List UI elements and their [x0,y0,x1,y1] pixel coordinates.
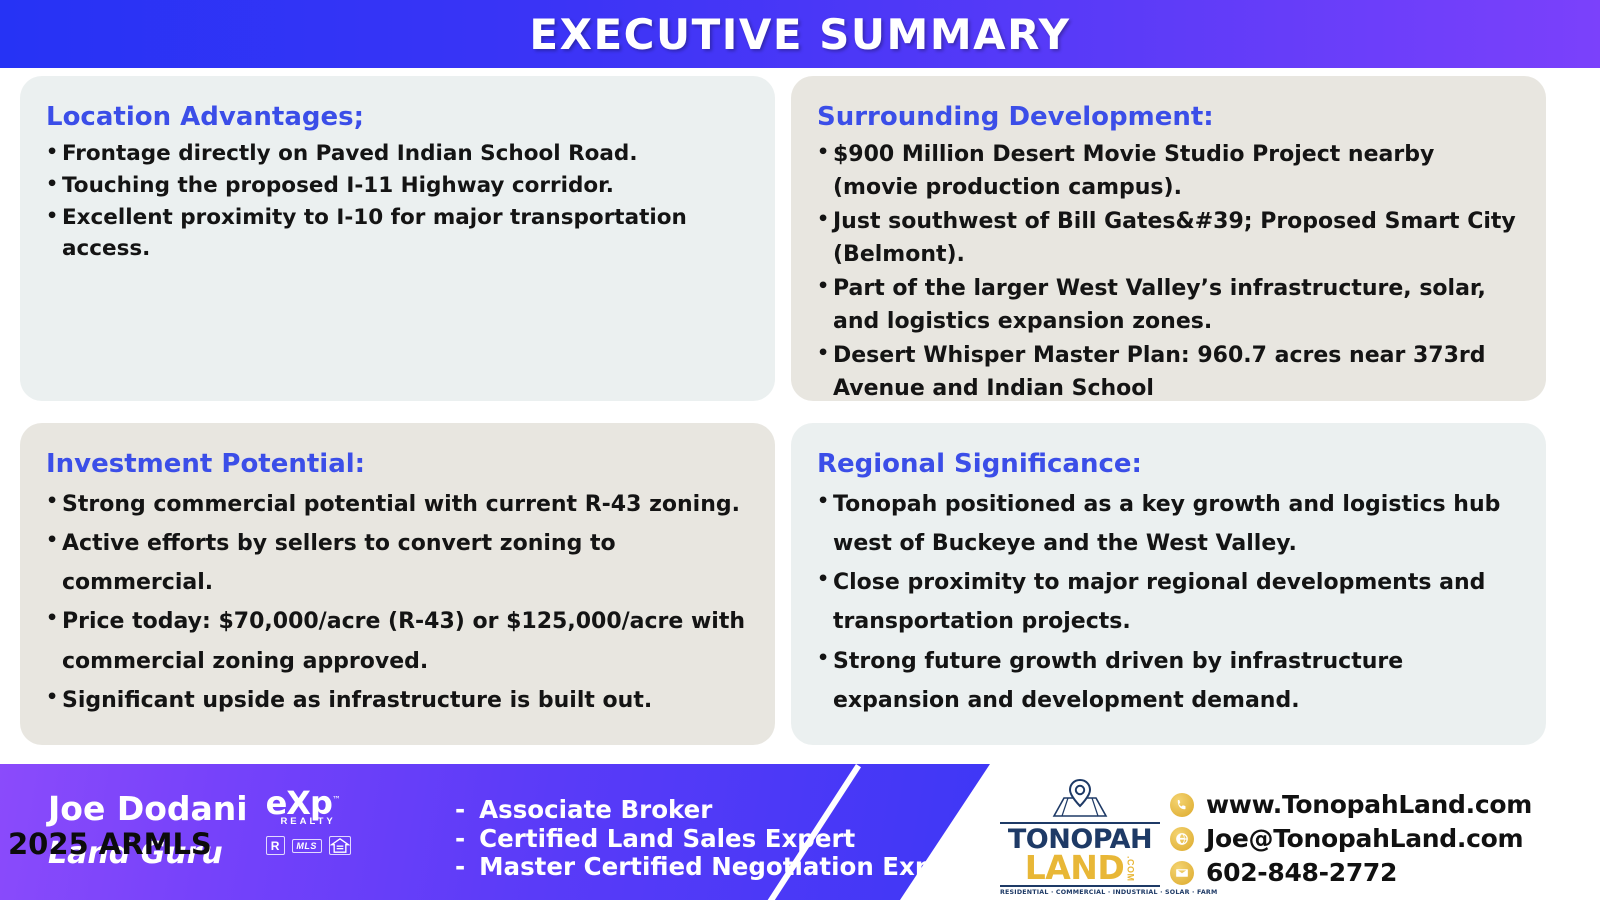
list-item: Strong commercial potential with current… [46,485,749,524]
brokerage-name: eXp™ [266,788,351,818]
contact-value: 602-848-2772 [1206,858,1397,887]
contact-value: www.TonopahLand.com [1206,790,1532,819]
agent-name: Joe Dodani [48,792,248,825]
tonopah-land-logo[interactable]: TONOPAH LAND .COM RESIDENTIAL · COMMERCI… [1000,778,1160,896]
association-logos: R MLS [266,836,351,855]
agent-credentials: - Associate Broker - Certified Land Sale… [455,796,973,882]
list-item: Excellent proximity to I-10 for major tr… [46,202,749,266]
list-item: Close proximity to major regional develo… [817,563,1520,641]
card-regional-significance: Regional Significance: Tonopah positione… [791,423,1546,745]
phone-icon [1170,793,1194,817]
logo-suffix-com: .COM [1125,856,1135,882]
list-item: Active efforts by sellers to convert zon… [46,524,749,602]
card-surrounding-development: Surrounding Development: $900 Million De… [791,76,1546,401]
card-bullet-list: Strong commercial potential with current… [46,485,749,720]
card-investment-potential: Investment Potential: Strong commercial … [20,423,775,745]
list-item: Strong future growth driven by infrastru… [817,642,1520,720]
trademark-icon: ™ [332,795,340,805]
list-item: Significant upside as infrastructure is … [46,681,749,720]
map-pin-parcel-icon [1000,778,1160,820]
credential-label: Associate Broker [479,796,712,825]
credential-dash: - [455,796,465,825]
list-item: Desert Whisper Master Plan: 960.7 acres … [817,339,1520,406]
credential-item: - Certified Land Sales Expert [455,825,973,854]
brokerage-wordmark: eXp [266,784,332,822]
card-bullet-list: Frontage directly on Paved Indian School… [46,138,749,265]
contact-value: Joe@TonopahLand.com [1206,824,1523,853]
list-item: Tonopah positioned as a key growth and l… [817,485,1520,563]
card-title: Regional Significance: [817,449,1520,479]
contact-website[interactable]: www.TonopahLand.com [1170,790,1532,819]
contact-phone[interactable]: 602-848-2772 [1170,858,1532,887]
page-header: EXECUTIVE SUMMARY [0,0,1600,68]
list-item: Part of the larger West Valley’s infrast… [817,272,1520,339]
credential-item: - Master Certified Negotiation Expert [455,853,973,882]
contact-list: www.TonopahLand.com Joe@TonopahLand.com … [1170,790,1532,892]
summary-card-grid: Location Advantages; Frontage directly o… [20,76,1580,745]
globe-icon [1170,827,1194,851]
contact-email[interactable]: Joe@TonopahLand.com [1170,824,1532,853]
card-title: Location Advantages; [46,102,749,132]
credential-label: Certified Land Sales Expert [479,825,855,854]
exp-realty-logo: eXp™ REALTY R MLS [266,788,351,855]
list-item: Touching the proposed I-11 Highway corri… [46,170,749,202]
envelope-icon [1170,861,1194,885]
card-bullet-list: $900 Million Desert Movie Studio Project… [817,138,1520,406]
logo-word-land-row: LAND .COM [1000,853,1160,883]
list-item: Frontage directly on Paved Indian School… [46,138,749,170]
card-location-advantages: Location Advantages; Frontage directly o… [20,76,775,401]
page-title: EXECUTIVE SUMMARY [529,10,1070,59]
logo-word-land: LAND [1025,853,1125,883]
equal-housing-icon [329,836,351,855]
realtor-icon: R [266,836,285,855]
card-bullet-list: Tonopah positioned as a key growth and l… [817,485,1520,720]
list-item: Price today: $70,000/acre (R-43) or $125… [46,602,749,680]
credential-item: - Associate Broker [455,796,973,825]
credential-label: Master Certified Negotiation Expert [479,853,973,882]
list-item: $900 Million Desert Movie Studio Project… [817,138,1520,205]
mls-watermark: 2025 ARMLS [8,827,212,861]
mls-icon: MLS [292,839,322,853]
credential-dash: - [455,853,465,882]
credential-dash: - [455,825,465,854]
card-title: Surrounding Development: [817,102,1520,132]
card-title: Investment Potential: [46,449,749,479]
logo-tagline: RESIDENTIAL · COMMERCIAL · INDUSTRIAL · … [1000,889,1160,896]
list-item: Just southwest of Bill Gates&#39; Propos… [817,205,1520,272]
page-footer: Joe Dodani Land Guru eXp™ REALTY R MLS 2… [0,764,1600,900]
